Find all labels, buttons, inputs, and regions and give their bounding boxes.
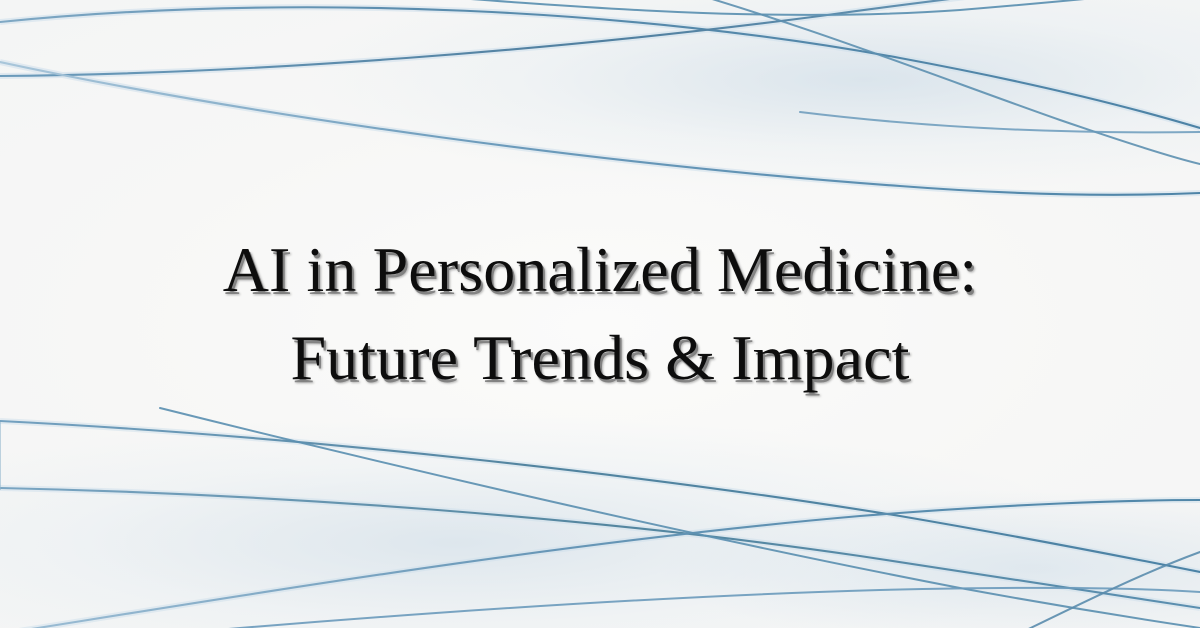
page-title-line-2: Future Trends & Impact (290, 314, 909, 402)
title-block: AI in Personalized Medicine: Future Tren… (0, 0, 1200, 628)
title-card: AI in Personalized Medicine: Future Tren… (0, 0, 1200, 628)
page-title-line-1: AI in Personalized Medicine: (223, 226, 978, 314)
